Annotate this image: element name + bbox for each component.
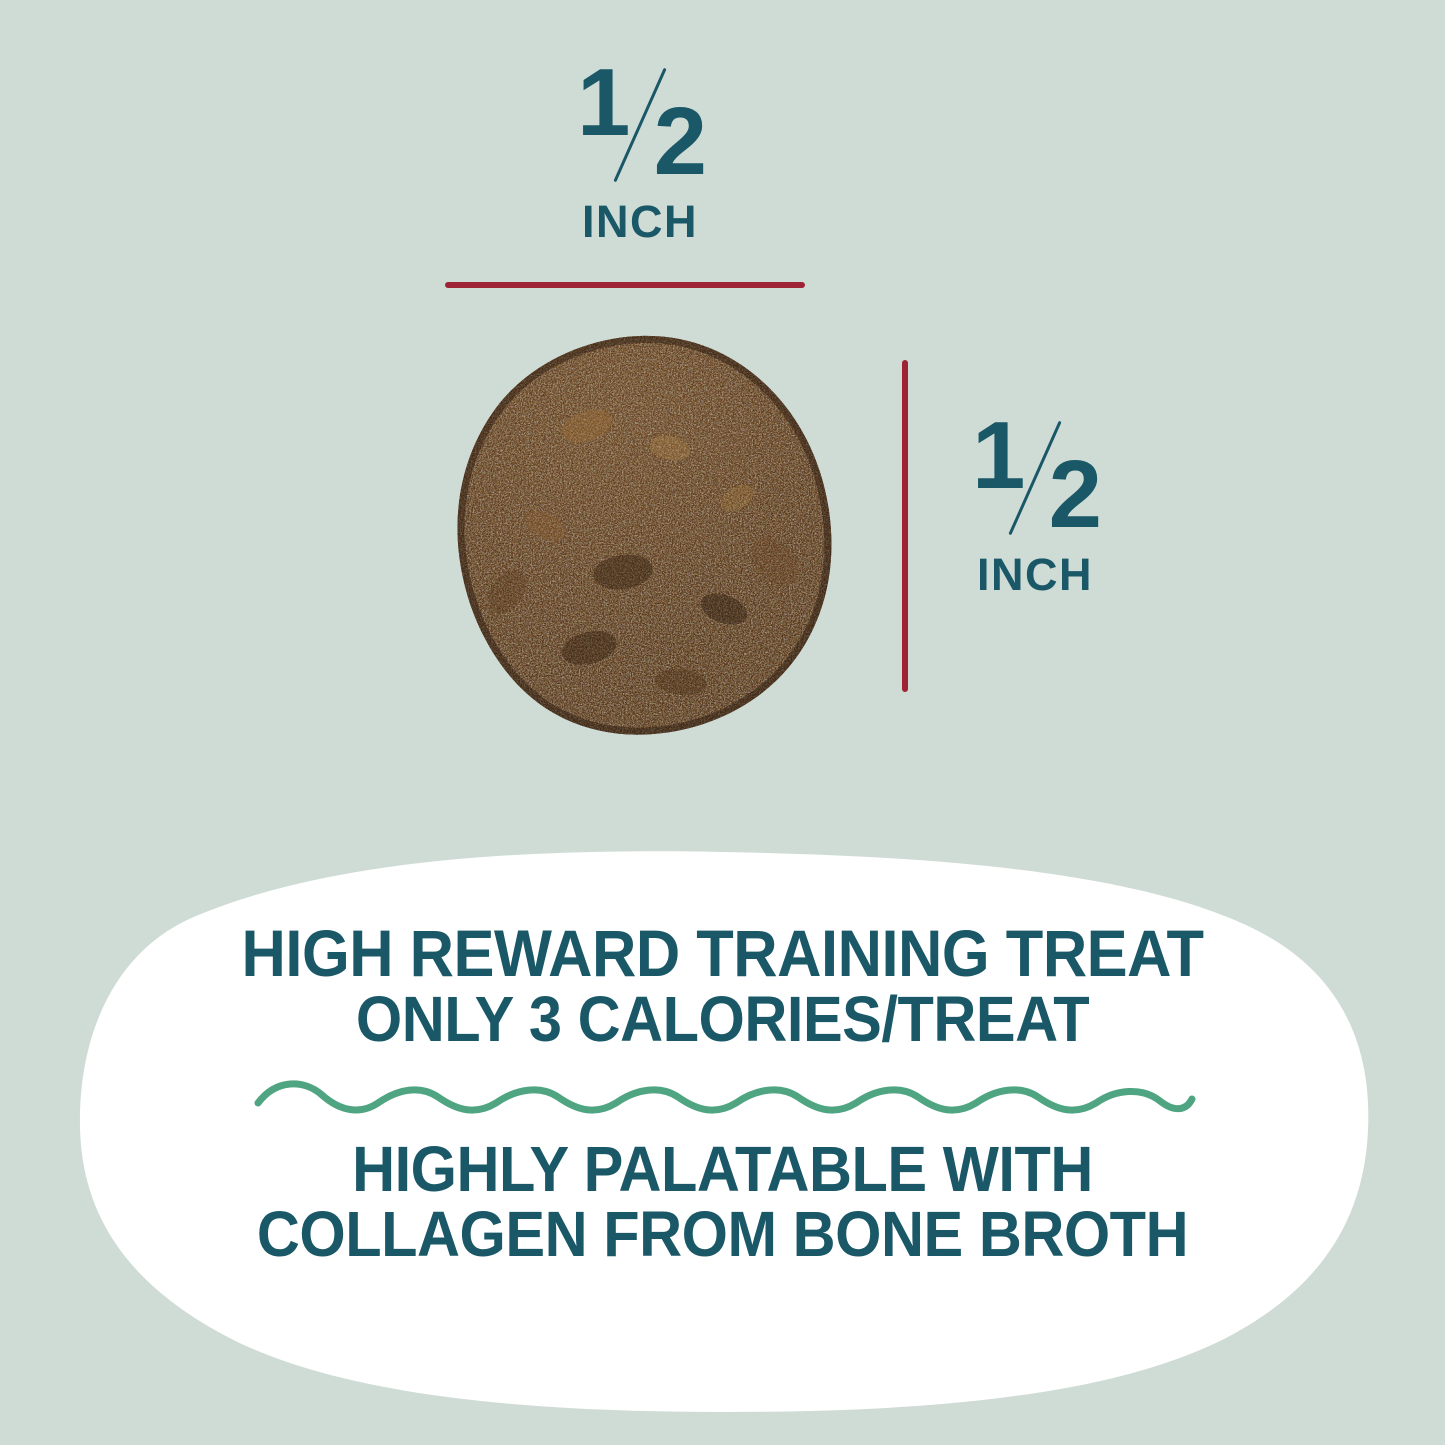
height-measurement-label: 1 2 INCH [910,408,1160,597]
height-unit-label: INCH [910,552,1160,597]
fraction-one-half-height: 1 2 [960,408,1110,543]
fraction-denominator: 2 [654,94,705,190]
fraction-one-half-width: 1 2 [565,55,715,190]
width-unit-label: INCH [515,199,765,244]
height-ruler-line [902,360,908,692]
fraction-numerator: 1 [972,408,1023,504]
callout-text-block: HIGH REWARD TRAINING TREAT ONLY 3 CALORI… [0,920,1445,1267]
fraction-denominator: 2 [1049,447,1100,543]
callout-group-primary: HIGH REWARD TRAINING TREAT ONLY 3 CALORI… [0,920,1445,1053]
treat-body [437,330,852,745]
width-measurement-label: 1 2 INCH [515,55,765,244]
callout-line-3: HIGHLY PALATABLE WITH [51,1137,1395,1202]
dog-treat-image [437,330,852,745]
callout-line-1: HIGH REWARD TRAINING TREAT [51,920,1395,987]
width-ruler-line [445,282,805,288]
infographic-canvas: 1 2 INCH [0,0,1445,1445]
callout-line-4: COLLAGEN FROM BONE BROTH [51,1202,1395,1267]
wavy-divider-icon [0,1069,1445,1125]
callout-line-2: ONLY 3 CALORIES/TREAT [51,987,1395,1052]
callout-group-secondary: HIGHLY PALATABLE WITH COLLAGEN FROM BONE… [0,1137,1445,1268]
fraction-numerator: 1 [577,55,628,151]
